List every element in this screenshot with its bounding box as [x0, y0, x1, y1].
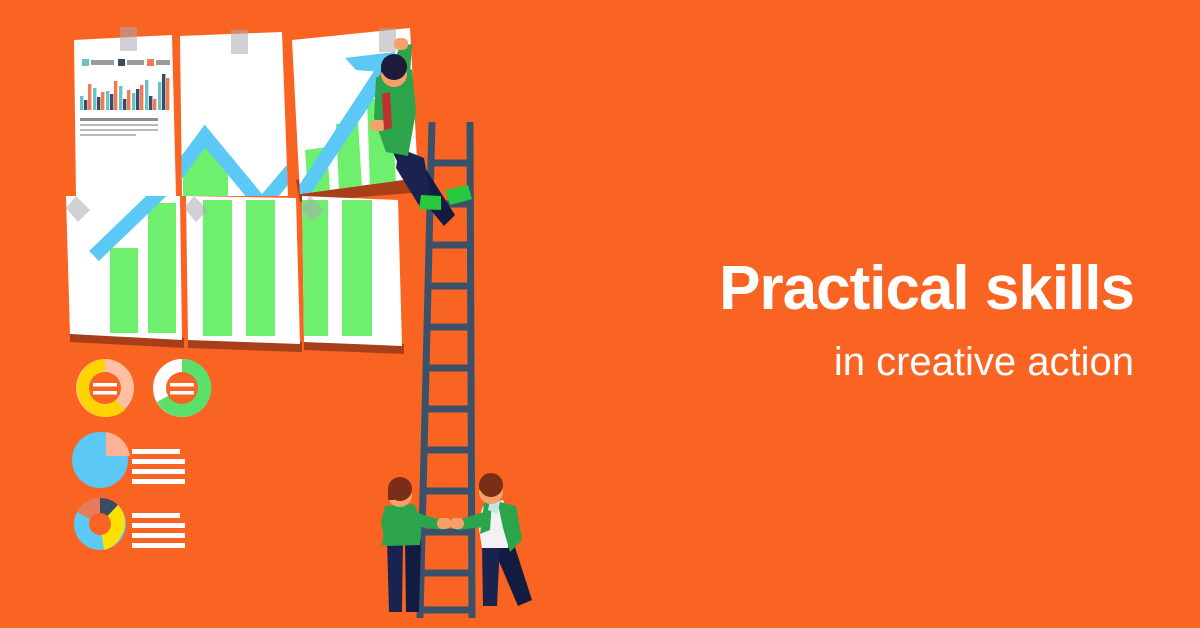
tape-top-middle	[231, 30, 248, 54]
leg-front	[482, 543, 500, 606]
hair-crown	[381, 54, 407, 80]
donut-chart-green	[153, 359, 211, 417]
bar-2	[342, 200, 372, 336]
tape-top-right	[379, 28, 396, 52]
tape-top-left	[120, 27, 137, 51]
poster-bottom-right	[298, 196, 402, 346]
page-subtitle: in creative action	[434, 342, 1134, 382]
pie-chart-blue	[72, 432, 185, 488]
person-holding-left	[381, 477, 451, 612]
poster-bottom-middle	[184, 196, 300, 344]
donut-chart-yellow	[76, 359, 134, 417]
bar-1	[203, 200, 232, 336]
shoe-front	[419, 195, 441, 210]
donut-legend-lines	[132, 513, 185, 548]
banner-root: Practical skills in creative action	[0, 0, 1200, 628]
leg-right	[405, 540, 421, 612]
page-title: Practical skills	[434, 258, 1134, 320]
bar-1	[110, 248, 138, 333]
donut-chart-multi	[74, 498, 185, 550]
pie-legend-lines	[132, 449, 185, 484]
hand-right	[437, 518, 451, 529]
hair-crown	[479, 473, 503, 497]
bar-2	[148, 203, 176, 333]
hair-side	[388, 489, 394, 500]
hand-left	[450, 518, 464, 529]
person-climbing	[370, 38, 472, 226]
headline-block: Practical skills in creative action	[434, 258, 1134, 382]
leg-left	[387, 540, 403, 612]
poster-bottom-left	[66, 178, 182, 340]
bar-2	[246, 200, 275, 336]
hand-up	[394, 38, 408, 50]
poster-top-left	[74, 27, 176, 196]
